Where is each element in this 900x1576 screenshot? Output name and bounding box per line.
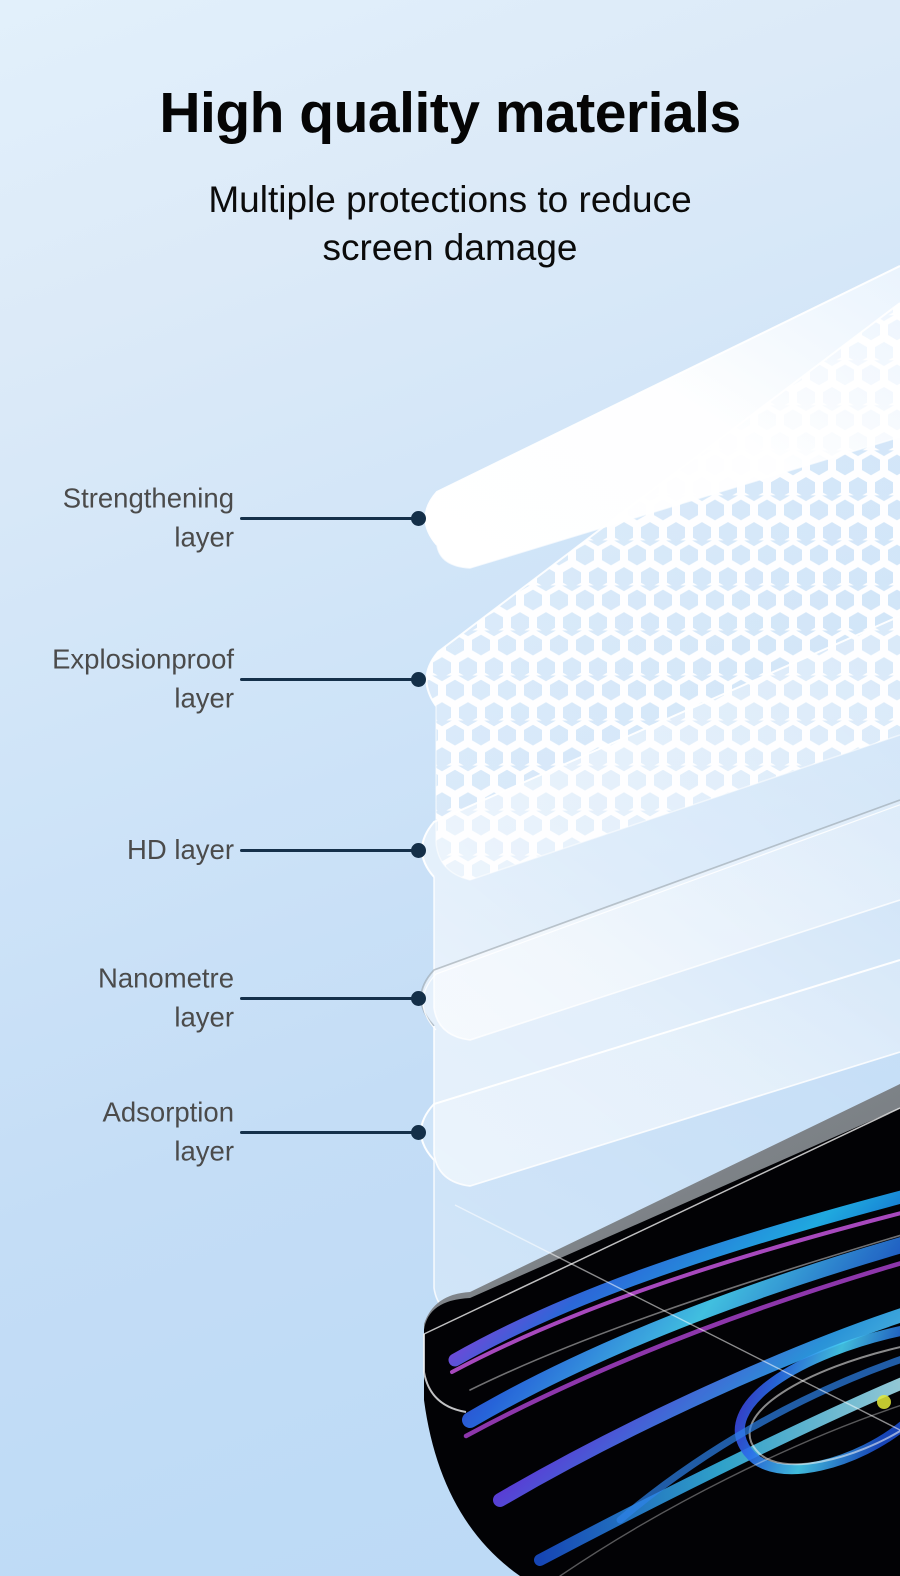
leader-line-hd-layer: [240, 849, 418, 852]
leader-line-explosionproof-layer: [240, 678, 418, 681]
callout-label-hd-layer: HD layer: [0, 831, 234, 870]
leader-line-nanometre-layer: [240, 997, 418, 1000]
callout-label-line-1: Adsorption: [103, 1097, 234, 1128]
callout-label-explosionproof-layer: Explosionproof layer: [0, 641, 234, 718]
leader-dot-nanometre-layer: [411, 991, 426, 1006]
callout-label-adsorption-layer: Adsorption layer: [0, 1094, 234, 1171]
callout-label-line-2: layer: [174, 521, 234, 552]
leader-dot-adsorption-layer: [411, 1125, 426, 1140]
callout-label-line-2: layer: [174, 1135, 234, 1166]
callout-label-nanometre-layer: Nanometre layer: [0, 960, 234, 1037]
leader-dot-explosionproof-layer: [411, 672, 426, 687]
callout-group: Strengthening layer Explosionproof layer…: [0, 0, 900, 1576]
leader-line-adsorption-layer: [240, 1131, 418, 1134]
callout-label-line-2: layer: [174, 1001, 234, 1032]
infographic-canvas: High quality materials Multiple protecti…: [0, 0, 900, 1576]
callout-label-line-2: layer: [174, 682, 234, 713]
callout-label-line-1: Nanometre: [98, 963, 234, 994]
callout-label-strengthening-layer: Strengthening layer: [0, 480, 234, 557]
callout-label-line-1: HD layer: [127, 834, 234, 865]
callout-label-line-1: Strengthening: [63, 483, 234, 514]
leader-dot-strengthening-layer: [411, 511, 426, 526]
leader-dot-hd-layer: [411, 843, 426, 858]
callout-label-line-1: Explosionproof: [52, 644, 234, 675]
leader-line-strengthening-layer: [240, 517, 418, 520]
